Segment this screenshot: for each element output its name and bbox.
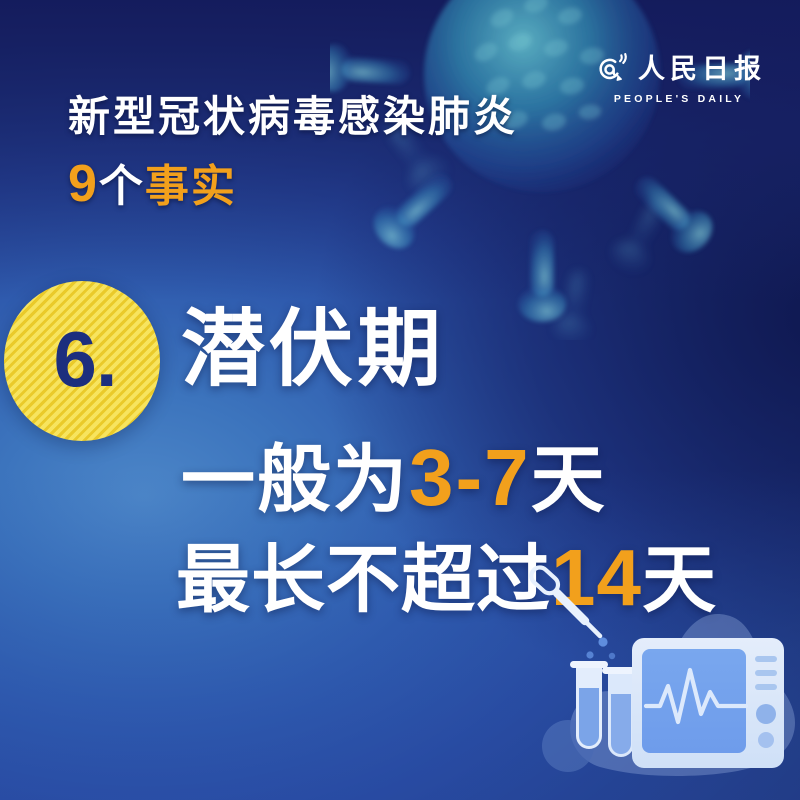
logo-name-cn: 人民日报 [638,56,766,83]
pipette-dropper-icon [528,564,600,636]
fact-line2-prefix: 一般为 [181,438,409,521]
medical-illustration [524,560,800,800]
fact-line3-prefix: 最长不超过 [176,538,551,621]
fact-number: 6. [53,320,116,398]
infographic-poster: 新型冠状病毒感染肺炎 9个事实 人民日报 [0,0,800,800]
logo-row: 人民日报 [592,50,766,88]
fact-line2-suffix: 天 [531,438,607,521]
fact-line-typical: 一般为3-7天 [181,438,607,518]
fact-number-badge: 6. [4,281,160,441]
subtitle-count: 9 [68,155,99,213]
ecg-vital-signs-monitor-icon [632,638,784,768]
fact-title: 潜伏期 [181,307,445,391]
page-title: 新型冠状病毒感染肺炎 [68,96,588,138]
subtitle-keyword: 事实 [145,162,237,211]
at-signal-icon [592,50,630,88]
logo-name-en: PEOPLE'S DAILY [614,93,744,105]
publisher-logo: 人民日报 PEOPLE'S DAILY [592,50,766,105]
page-subtitle: 9个事实 [68,158,488,210]
subtitle-measure-word: 个 [99,162,145,211]
fact-line2-value: 3-7 [409,433,531,522]
